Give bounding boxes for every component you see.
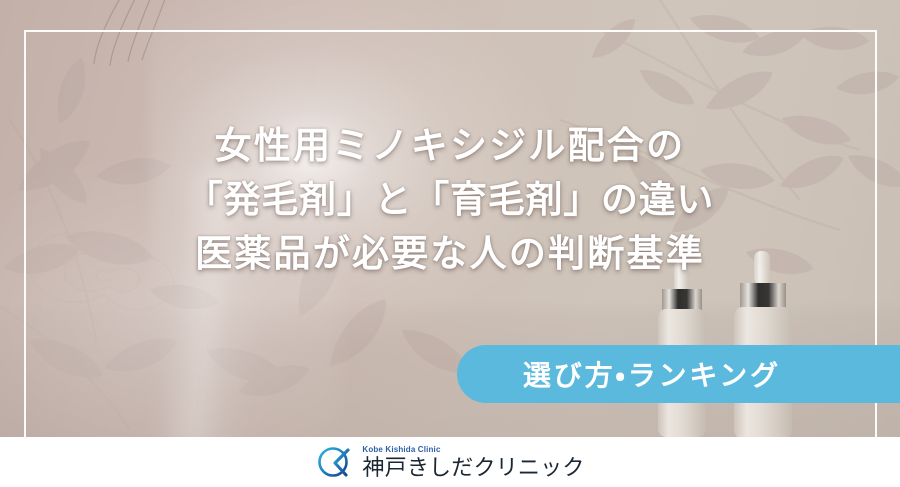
clinic-logo-text: Kobe Kishida Clinic 神戸きしだクリニック — [362, 445, 584, 480]
category-badge[interactable]: 選び方・ランキング — [457, 345, 900, 403]
clinic-name-en: Kobe Kishida Clinic — [362, 445, 584, 455]
page-title: 女性用ミノキシジル配合の 「発毛剤」と「育毛剤」の違い 医薬品が必要な人の判断基… — [0, 120, 900, 282]
headline-line-1: 女性用ミノキシジル配合の — [0, 120, 900, 174]
footer-bar: Kobe Kishida Clinic 神戸きしだクリニック — [0, 437, 900, 487]
clinic-name-ja: 神戸きしだクリニック — [362, 456, 584, 480]
clinic-logo[interactable]: Kobe Kishida Clinic 神戸きしだクリニック — [315, 442, 584, 482]
hero-image: 女性用ミノキシジル配合の 「発毛剤」と「育毛剤」の違い 医薬品が必要な人の判断基… — [0, 0, 900, 437]
headline-line-2: 「発毛剤」と「育毛剤」の違い — [0, 174, 900, 228]
circle-k-logo-icon — [315, 442, 355, 482]
category-badge-label: 選び方・ランキング — [523, 354, 781, 394]
headline-line-3: 医薬品が必要な人の判断基準 — [0, 228, 900, 282]
article-hero-banner: 女性用ミノキシジル配合の 「発毛剤」と「育毛剤」の違い 医薬品が必要な人の判断基… — [0, 0, 900, 487]
